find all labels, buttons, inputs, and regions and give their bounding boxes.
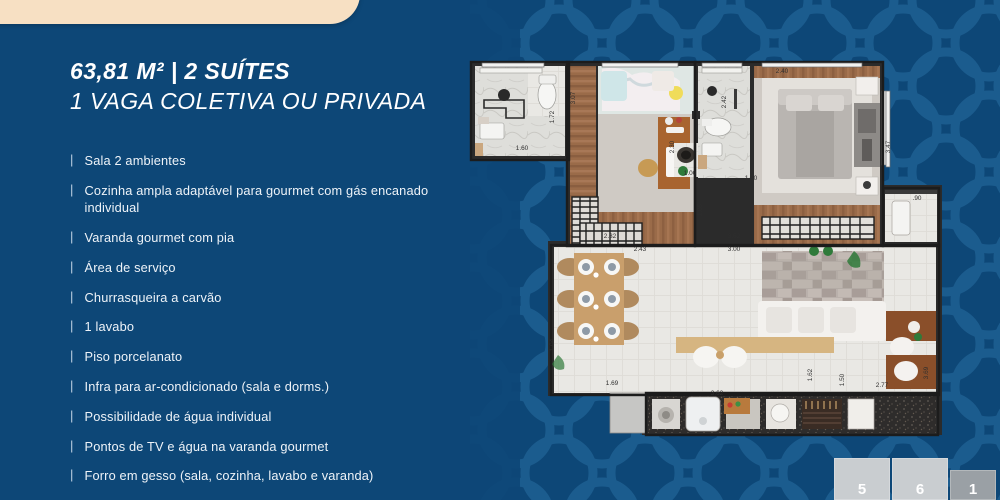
list-item-label: Área de serviço (85, 259, 176, 276)
dimension-label: 2.40 (776, 68, 789, 75)
page-title: 63,81 M² | 2 SUÍTES 1 VAGA COLETIVA OU P… (70, 58, 470, 114)
bullet-pipe-icon: | (70, 348, 74, 365)
unit-number-badges: 5 6 1 (834, 458, 996, 500)
list-item: | 1 lavabo (70, 318, 470, 335)
list-item-label: Varanda gourmet com pia (85, 229, 235, 246)
dimension-label: 2.77 (876, 382, 889, 389)
badge-1[interactable]: 1 (950, 470, 996, 500)
list-item: | Forro em gesso (sala, cozinha, lavabo … (70, 467, 470, 484)
list-item-label: Pontos de TV e água na varanda gourmet (85, 438, 329, 455)
bullet-pipe-icon: | (70, 318, 74, 335)
bullet-pipe-icon: | (70, 182, 74, 199)
list-item: | Piso porcelanato (70, 348, 470, 365)
list-item: | Varanda gourmet com pia (70, 229, 470, 246)
top-banner: TIPO 01 (0, 0, 360, 24)
list-item: | Pontos de TV e água na varanda gourmet (70, 438, 470, 455)
dimension-label: 2.42 (721, 95, 728, 108)
dimension-label: 3.62 (728, 233, 741, 240)
dimension-label: 1.60 (516, 145, 529, 152)
feature-list: | Sala 2 ambientes | Cozinha ampla adapt… (70, 152, 470, 484)
list-item-label: Infra para ar-condicionado (sala e dorms… (85, 378, 330, 395)
headline-line-1: 63,81 M² | 2 SUÍTES (70, 58, 470, 85)
badge-6[interactable]: 6 (892, 458, 948, 500)
list-item-label: Sala 2 ambientes (85, 152, 186, 169)
bullet-pipe-icon: | (70, 378, 74, 395)
list-item: | Cozinha ampla adaptável para gourmet c… (70, 182, 470, 217)
dimension-label: 3.62 (711, 390, 724, 397)
bullet-pipe-icon: | (70, 438, 74, 455)
dimension-label: 2.43 (634, 246, 647, 253)
dimension-label: 1.69 (606, 380, 619, 387)
list-item-label: Forro em gesso (sala, cozinha, lavabo e … (85, 467, 374, 484)
dimension-label: 1.50 (839, 373, 846, 386)
headline-line-2: 1 VAGA COLETIVA OU PRIVADA (70, 88, 470, 115)
badge-5[interactable]: 5 (834, 458, 890, 500)
dimension-label: 3.07 (570, 91, 577, 104)
list-item: | Infra para ar-condicionado (sala e dor… (70, 378, 470, 395)
list-item: | Churrasqueira a carvão (70, 289, 470, 306)
dimension-label: 1.62 (807, 368, 814, 381)
list-item-label: Churrasqueira a carvão (85, 289, 222, 306)
floorplan-image: 1.723.071.602.302.402.421.001.303.47.901… (462, 55, 960, 450)
list-item: | Sala 2 ambientes (70, 152, 470, 169)
list-item-label: Piso porcelanato (85, 348, 183, 365)
bullet-pipe-icon: | (70, 259, 74, 276)
dimension-label: .90 (913, 195, 922, 202)
dimension-label: 3.47 (885, 140, 892, 153)
list-item: | Possibilidade de água individual (70, 408, 470, 425)
dimension-label: 2.32 (604, 233, 617, 240)
bullet-pipe-icon: | (70, 289, 74, 306)
bullet-pipe-icon: | (70, 408, 74, 425)
dimension-label: 2.30 (669, 140, 676, 153)
bullet-pipe-icon: | (70, 467, 74, 484)
bullet-pipe-icon: | (70, 229, 74, 246)
dimension-label: 1.72 (549, 110, 556, 123)
dimension-label: 1.00 (684, 170, 697, 177)
dimension-label: 1.30 (745, 175, 758, 182)
list-item-label: 1 lavabo (85, 318, 135, 335)
dimension-label: 1.04 (549, 338, 556, 351)
dimension-label: 3.69 (923, 366, 930, 379)
list-item: | Área de serviço (70, 259, 470, 276)
list-item-label: Possibilidade de água individual (85, 408, 272, 425)
left-info-panel: 63,81 M² | 2 SUÍTES 1 VAGA COLETIVA OU P… (0, 0, 470, 500)
dimension-label: 1.05 (697, 203, 704, 216)
dimension-label: 3.00 (728, 246, 741, 253)
bullet-pipe-icon: | (70, 152, 74, 169)
list-item-label: Cozinha ampla adaptável para gourmet com… (85, 182, 435, 217)
